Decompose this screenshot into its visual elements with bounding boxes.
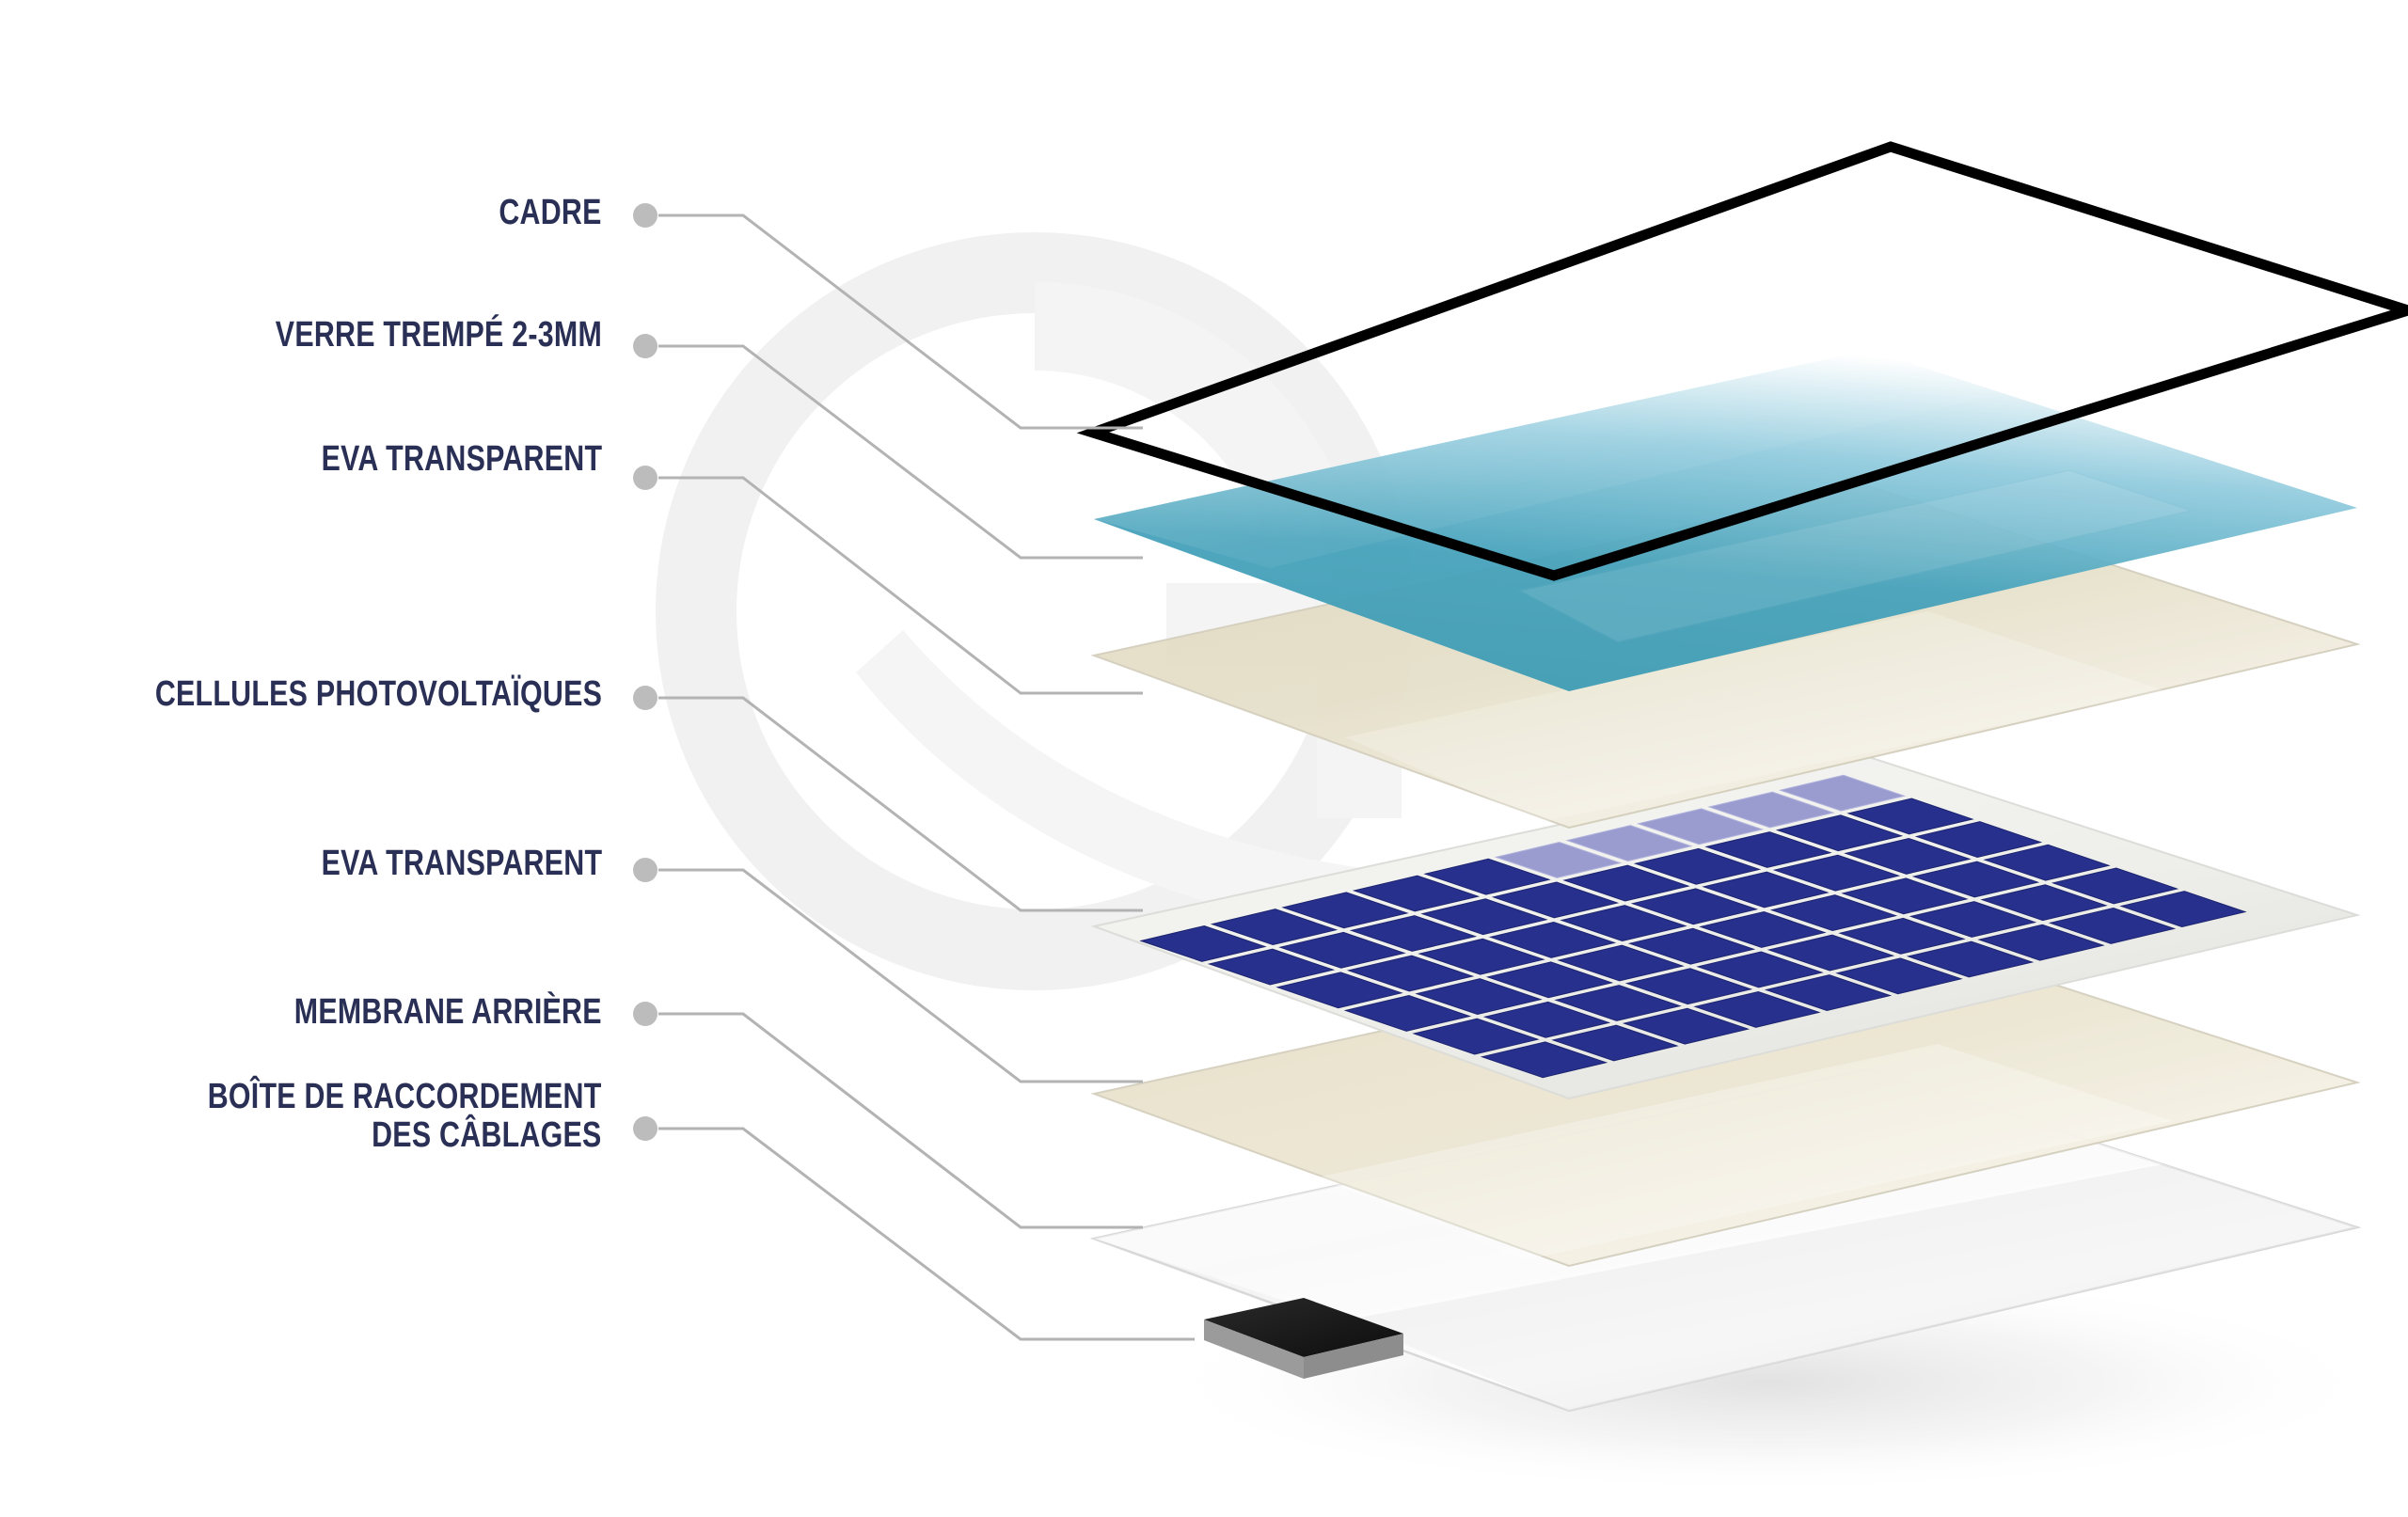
label-membrane-arriere[interactable]: MEMBRANE ARRIÈRE [294, 993, 602, 1032]
exploded-layers-artwork [0, 0, 2408, 1517]
label-eva-transparent-2[interactable]: EVA TRANSPARENT [321, 845, 602, 883]
label-eva-transparent-1[interactable]: EVA TRANSPARENT [321, 440, 602, 479]
label-cellules-pv[interactable]: CELLULES PHOTOVOLTAÏQUES [155, 675, 602, 714]
solar-panel-exploded-diagram: CADRE VERRE TREMPÉ 2-3MM EVA TRANSPARENT… [0, 0, 2408, 1517]
label-cadre[interactable]: CADRE [499, 194, 602, 232]
label-verre-trempe[interactable]: VERRE TREMPÉ 2-3MM [276, 316, 602, 355]
label-boite-raccordement[interactable]: BOÎTE DE RACCORDEMENT DES CÂBLAGES [208, 1078, 602, 1155]
